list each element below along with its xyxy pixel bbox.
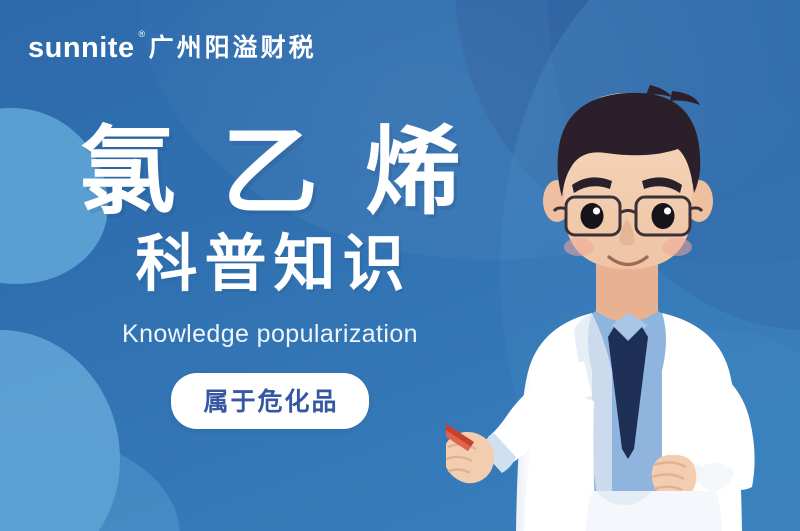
page-subtitle: 科普知识 (0, 234, 540, 296)
headline-block: 氯 乙 烯 科普知识 Knowledge popularization 属于危化… (0, 126, 540, 429)
logo-text: sunnite (28, 32, 135, 64)
brand-bar: sunnite® 广州阳溢财税 (28, 34, 317, 63)
page-title-english: Knowledge popularization (0, 322, 540, 347)
background-blob-bottom-left (0, 430, 180, 531)
logo-wordmark: sunnite® (28, 34, 135, 63)
registered-trademark-icon: ® (138, 30, 145, 39)
badge-container: 属于危化品 (0, 373, 540, 429)
company-name-label: 广州阳溢财税 (149, 36, 317, 61)
page-title: 氯 乙 烯 (0, 126, 540, 220)
status-badge: 属于危化品 (171, 373, 368, 429)
figure-lower-body (586, 491, 722, 531)
poster-canvas: sunnite® 广州阳溢财税 氯 乙 烯 科普知识 Knowledge pop… (0, 0, 800, 531)
